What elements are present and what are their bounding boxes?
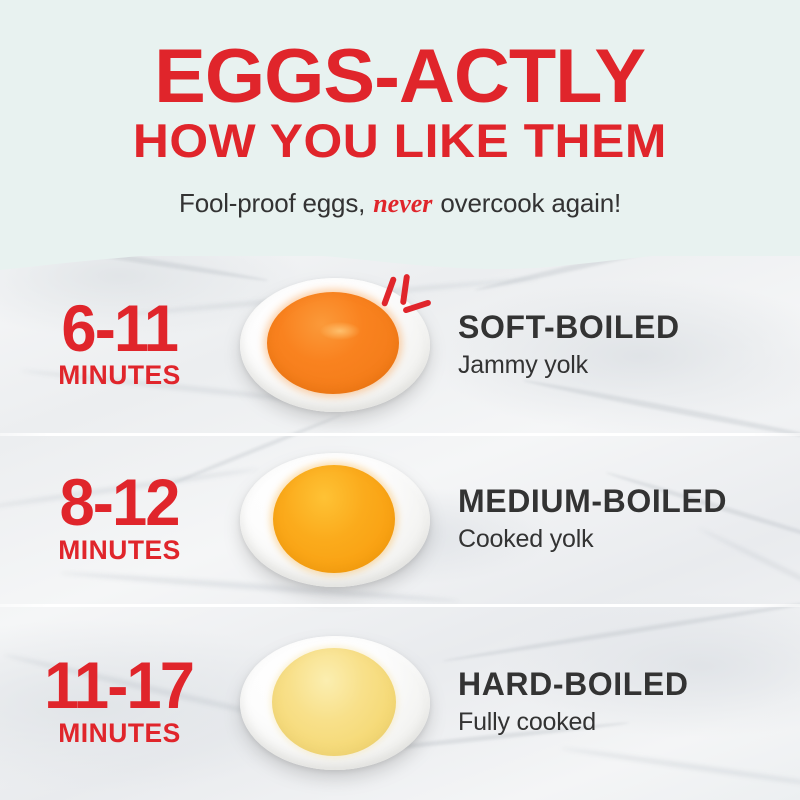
label-block: SOFT-BOILED Jammy yolk: [440, 311, 800, 379]
time-unit: MINUTES: [58, 720, 181, 747]
doneness-title: MEDIUM-BOILED: [458, 485, 800, 519]
time-unit: MINUTES: [58, 362, 181, 389]
doneness-row-soft-boiled: 6-11 MINUTES SOFT-BOILED Jammy yolk: [0, 256, 800, 434]
doneness-description: Fully cooked: [458, 709, 800, 737]
row-divider-1: [0, 433, 800, 436]
doneness-description: Cooked yolk: [458, 526, 800, 554]
doneness-row-medium-boiled: 8-12 MINUTES MEDIUM-BOILED Cooked yolk: [0, 434, 800, 605]
soft-boiled-egg: [240, 278, 430, 412]
time-block: 11-17 MINUTES: [0, 658, 230, 746]
sparkle-stroke-3: [402, 299, 431, 314]
doneness-row-hard-boiled: 11-17 MINUTES HARD-BOILED Fully cooked: [0, 605, 800, 800]
sparkle-stroke-1: [381, 276, 397, 307]
label-block: HARD-BOILED Fully cooked: [440, 668, 800, 736]
egg-block: [230, 278, 440, 412]
time-range: 6-11: [61, 301, 177, 356]
egg-yolk: [272, 648, 396, 756]
subtitle-emphasis-never: never: [372, 189, 433, 218]
time-range: 11-17: [45, 658, 194, 713]
egg-block: [230, 636, 440, 770]
subtitle-text-after: overcook again!: [440, 188, 621, 218]
sparkle-accent-icon: [378, 274, 438, 328]
page-title-line-2: HOW YOU LIKE THEM: [133, 117, 667, 164]
label-block: MEDIUM-BOILED Cooked yolk: [440, 485, 800, 553]
header: EGGS-ACTLY HOW YOU LIKE THEM Fool-proof …: [0, 0, 800, 256]
time-range: 8-12: [59, 475, 178, 530]
time-block: 6-11 MINUTES: [0, 301, 230, 389]
medium-boiled-egg: [240, 453, 430, 587]
time-unit: MINUTES: [58, 537, 181, 564]
page-title-line-1: EGGS-ACTLY: [155, 44, 646, 109]
egg-yolk: [273, 465, 395, 573]
page-subtitle: Fool-proof eggs, never overcook again!: [179, 188, 621, 219]
doneness-title: SOFT-BOILED: [458, 311, 800, 345]
time-block: 8-12 MINUTES: [0, 475, 230, 563]
doneness-rows: 6-11 MINUTES SOFT-BOILED Jammy yolk: [0, 256, 800, 800]
hard-boiled-egg: [240, 636, 430, 770]
yolk-highlight: [320, 322, 360, 340]
row-divider-2: [0, 604, 800, 607]
doneness-title: HARD-BOILED: [458, 668, 800, 702]
subtitle-text-before: Fool-proof eggs,: [179, 188, 365, 218]
sparkle-stroke-2: [400, 274, 410, 306]
egg-block: [230, 453, 440, 587]
doneness-description: Jammy yolk: [458, 352, 800, 380]
infographic-page: EGGS-ACTLY HOW YOU LIKE THEM Fool-proof …: [0, 0, 800, 800]
